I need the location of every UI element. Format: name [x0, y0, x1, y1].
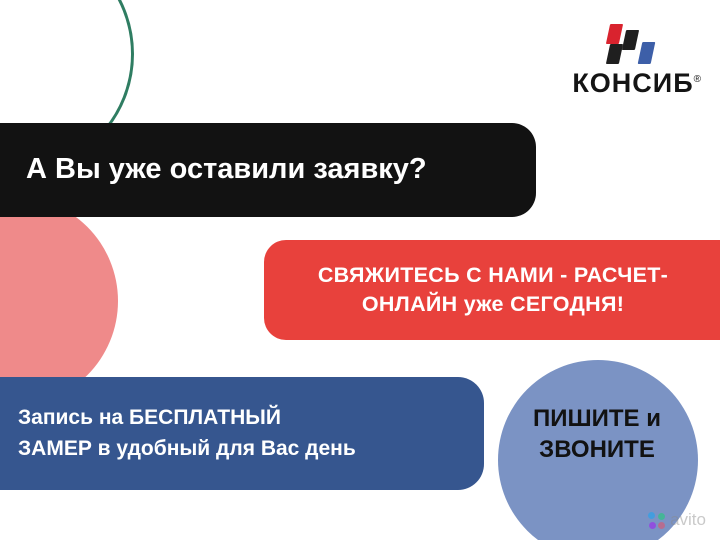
- logo-bar-blue-icon: [638, 42, 656, 64]
- logo-mark-icon: [572, 22, 676, 66]
- banner-question-text: А Вы уже оставили заявку?: [26, 154, 427, 186]
- avito-logo-icon: [648, 512, 665, 529]
- banner-contact-line2-part1: ОНЛАЙН: [362, 292, 458, 316]
- poster-canvas: КОНСИБ® А Вы уже оставили заявку? СВЯЖИТ…: [0, 0, 720, 540]
- banner-measure-line1: Запись на БЕСПЛАТНЫЙ: [18, 406, 281, 429]
- call-line2: ЗВОНИТЕ: [539, 436, 655, 463]
- logo-bar-black-lower-icon: [606, 44, 623, 64]
- banner-contact-line2-part3: СЕГОДНЯ!: [510, 292, 624, 316]
- brand-logo: КОНСИБ®: [572, 22, 702, 97]
- logo-bar-black-upper-icon: [622, 30, 639, 50]
- banner-contact-text: СВЯЖИТЕСЬ С НАМИ - РАСЧЕТ- ОНЛАЙН уже СЕ…: [318, 261, 668, 319]
- logo-bar-red-icon: [606, 24, 623, 44]
- banner-contact: СВЯЖИТЕСЬ С НАМИ - РАСЧЕТ- ОНЛАЙН уже СЕ…: [264, 240, 720, 340]
- call-to-action-text: ПИШИТЕ и ЗВОНИТЕ: [497, 404, 697, 465]
- decor-circle-pink: [0, 196, 118, 406]
- avito-watermark-label: avito: [670, 510, 706, 530]
- brand-name-text: КОНСИБ: [572, 68, 693, 98]
- call-line1: ПИШИТЕ и: [533, 405, 661, 432]
- brand-name: КОНСИБ®: [572, 70, 702, 97]
- banner-measure-text: Запись на БЕСПЛАТНЫЙ ЗАМЕР в удобный для…: [18, 403, 356, 464]
- avito-watermark: avito: [648, 510, 706, 530]
- banner-measure-line2: ЗАМЕР в удобный для Вас день: [18, 437, 356, 460]
- banner-contact-line1: СВЯЖИТЕСЬ С НАМИ - РАСЧЕТ-: [318, 263, 668, 287]
- banner-measure: Запись на БЕСПЛАТНЫЙ ЗАМЕР в удобный для…: [0, 377, 484, 490]
- banner-contact-line2-part2: уже: [464, 292, 504, 316]
- banner-question: А Вы уже оставили заявку?: [0, 123, 536, 217]
- registered-mark: ®: [694, 74, 702, 85]
